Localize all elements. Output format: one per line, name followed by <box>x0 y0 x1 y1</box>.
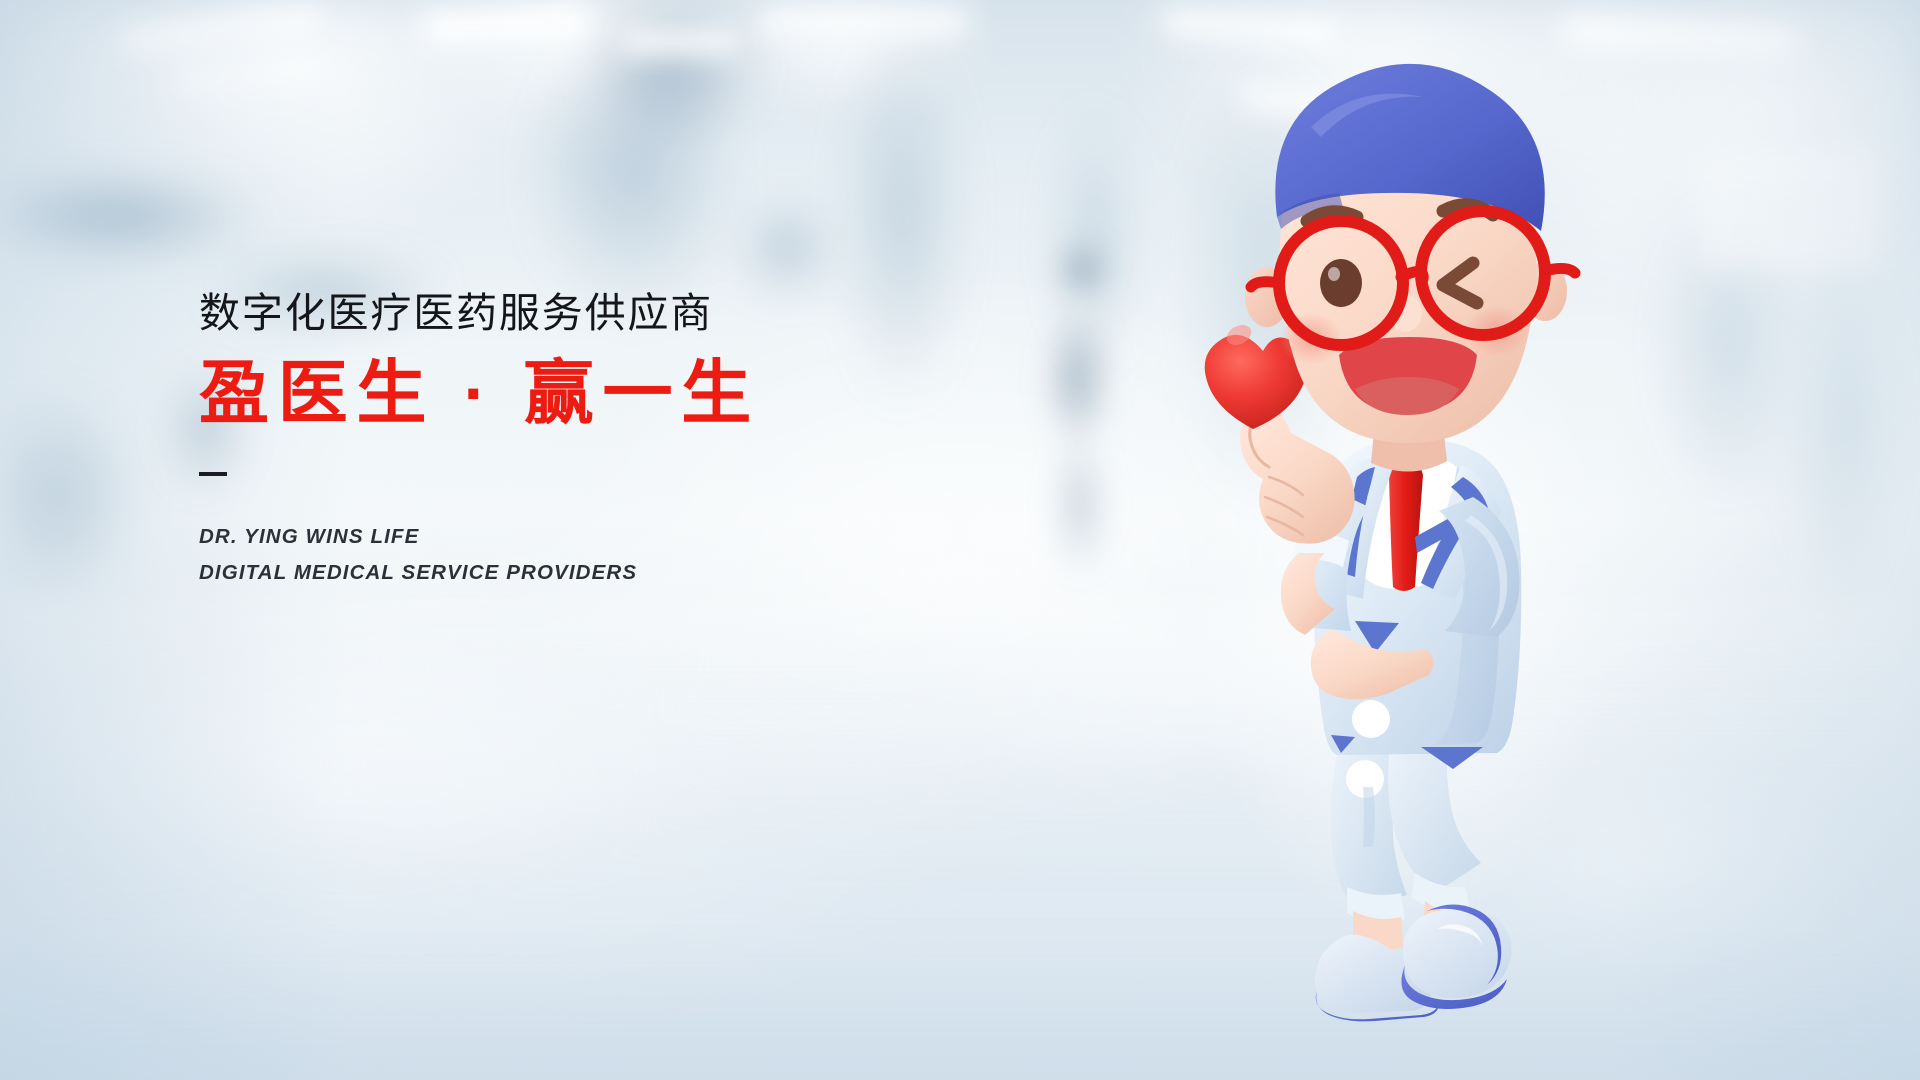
coat-button <box>1352 700 1390 738</box>
eye-highlight <box>1328 267 1340 281</box>
english-subtitle-group: DR. YING WINS LIFE DIGITAL MEDICAL SERVI… <box>199 519 959 590</box>
divider-rule <box>199 472 227 476</box>
banner-stage: 数字化医疗医药服务供应商 盈医生 · 赢一生 DR. YING WINS LIF… <box>0 0 1920 1080</box>
english-subtitle-line-1: DR. YING WINS LIFE <box>199 519 959 554</box>
shoe-front <box>1401 904 1511 1009</box>
coat-hem-split <box>1363 787 1375 847</box>
eye-open <box>1320 259 1362 307</box>
headline-slogan: 盈医生 · 赢一生 <box>199 355 959 432</box>
hero-copy: 数字化医疗医药服务供应商 盈医生 · 赢一生 DR. YING WINS LIF… <box>199 289 959 590</box>
headline-subtitle: 数字化医疗医药服务供应商 <box>199 289 959 337</box>
doctor-mascot-illustration <box>1215 45 1635 1050</box>
english-subtitle-line-2: DIGITAL MEDICAL SERVICE PROVIDERS <box>199 555 959 590</box>
